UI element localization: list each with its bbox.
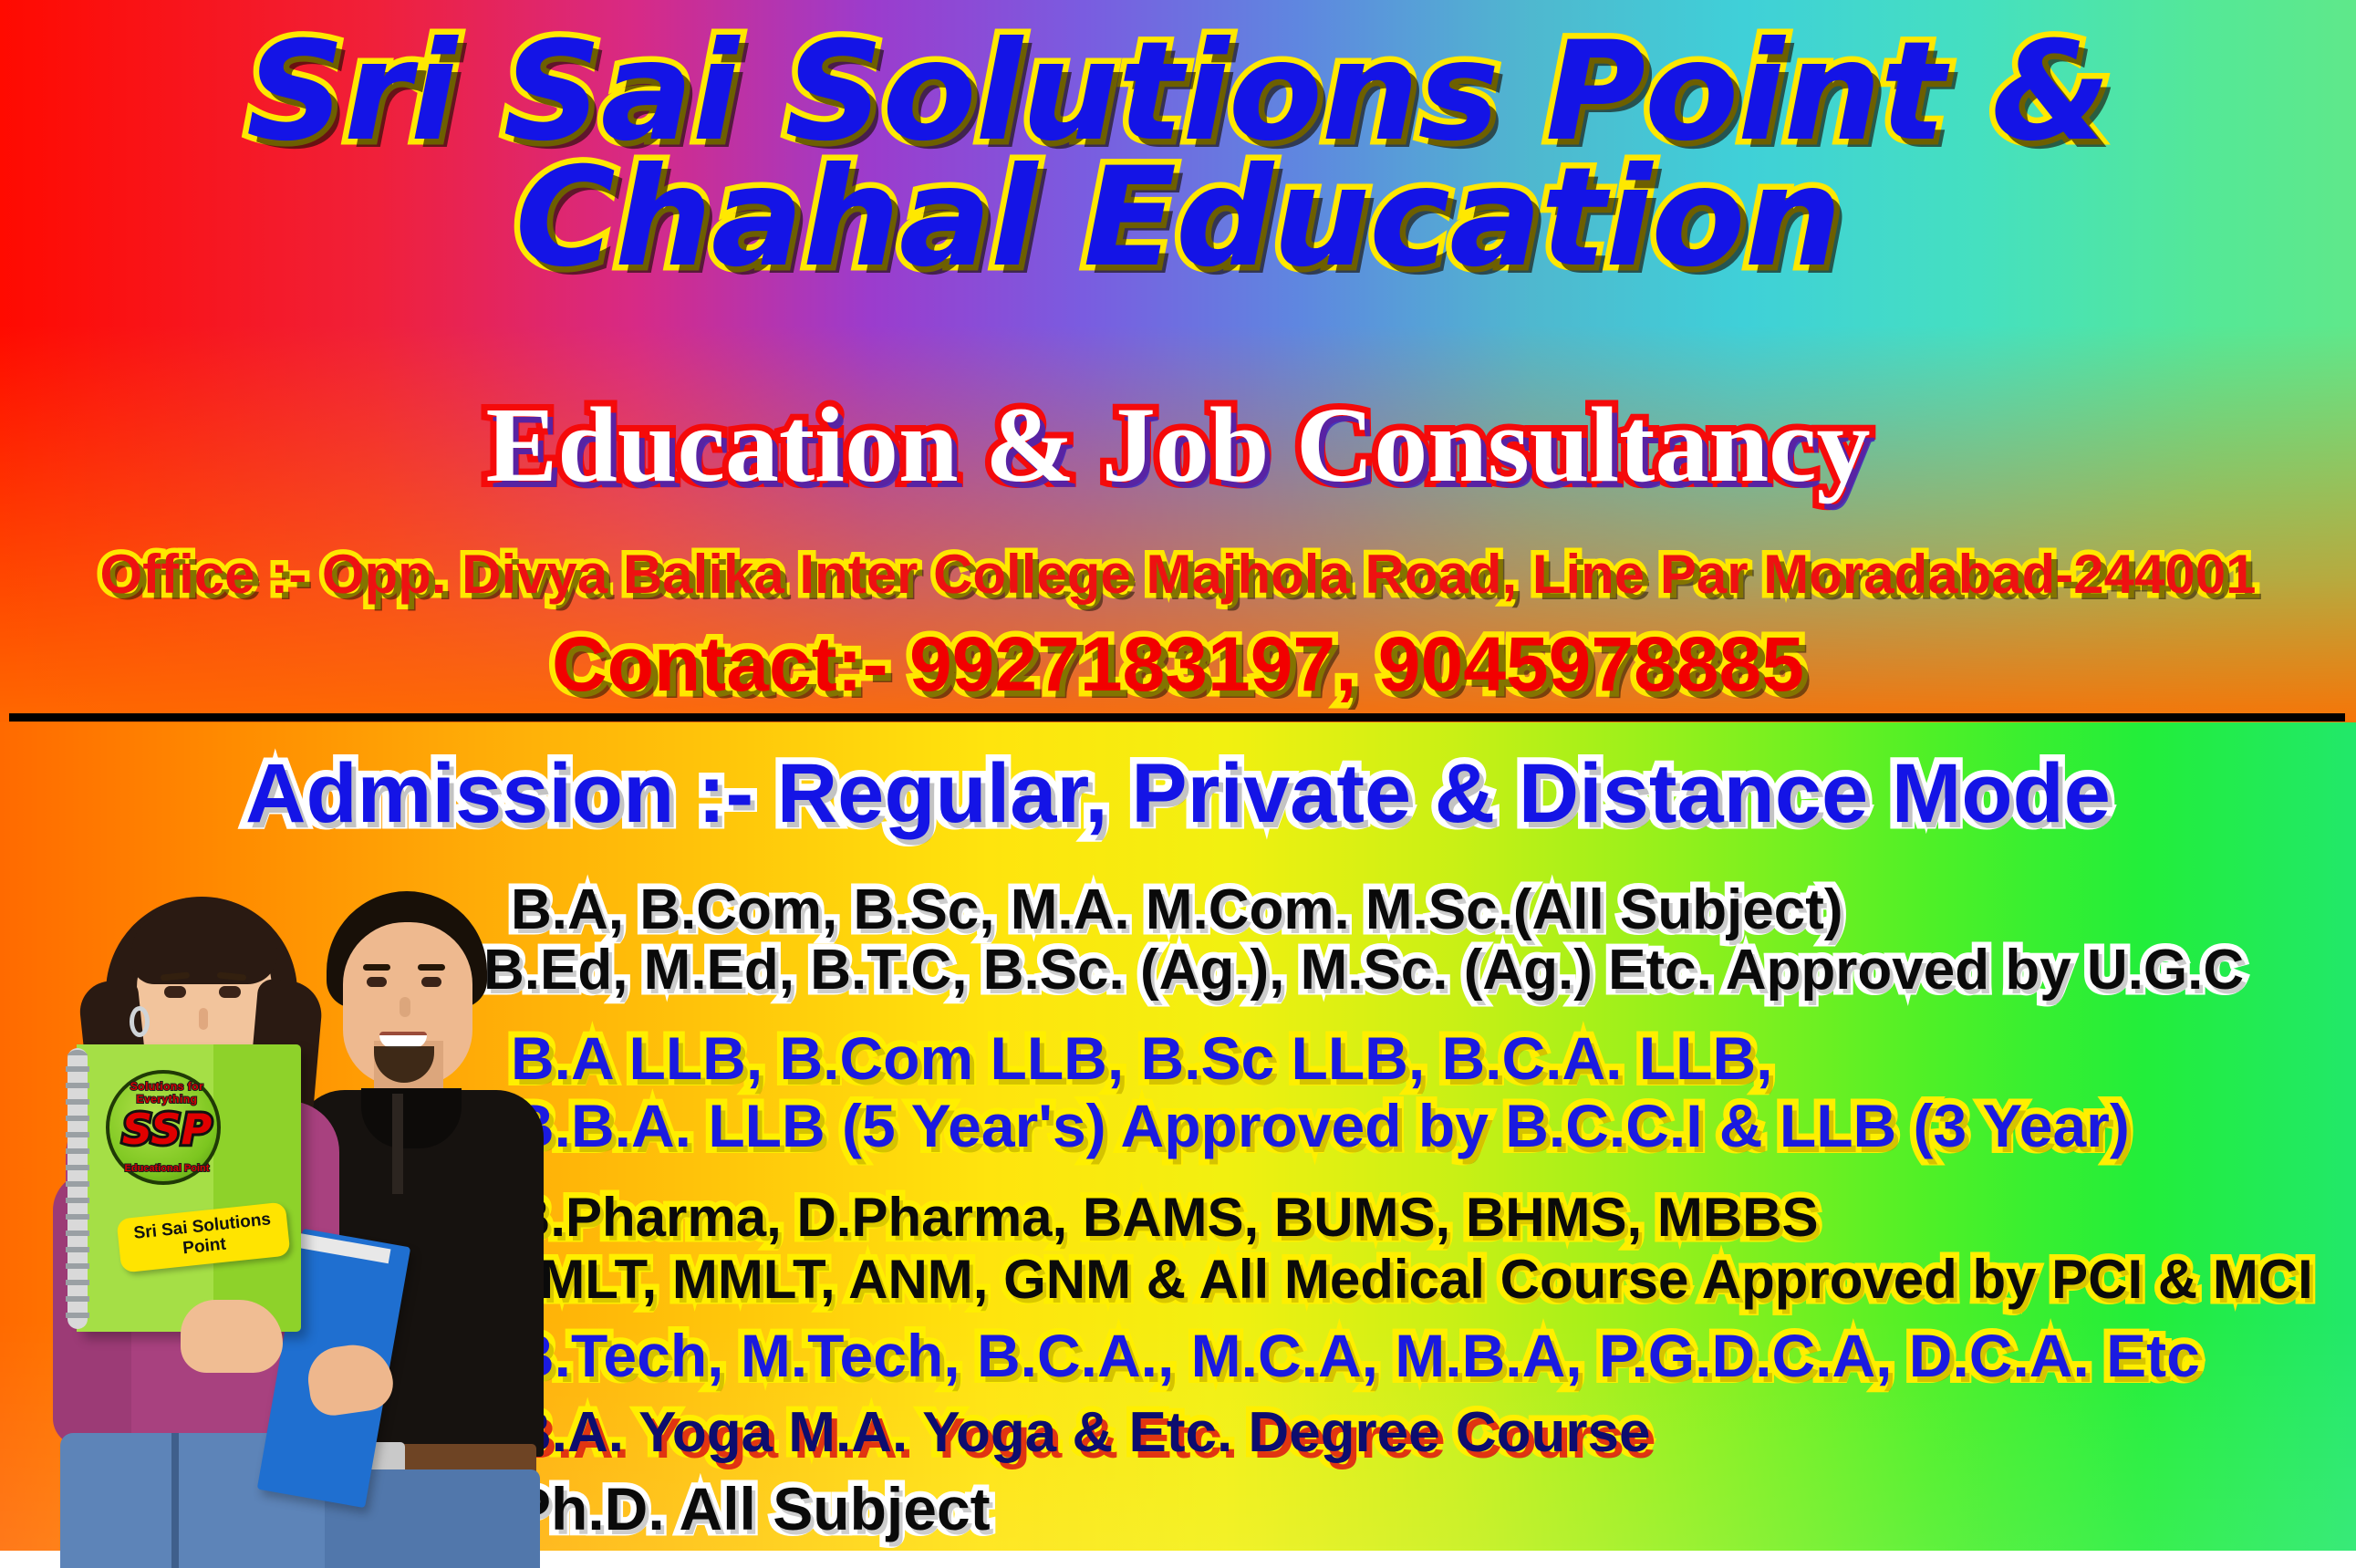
poster-title-line-2: Chahal Education bbox=[0, 139, 2356, 297]
course-line-med-1: B.Pharma, D.Pharma, BAMS, BUMS, BHMS, MB… bbox=[511, 1186, 2344, 1249]
office-address: Office :- Opp. Divya Balika Inter Colleg… bbox=[0, 543, 2356, 606]
man-shirt-placket bbox=[392, 1094, 403, 1194]
admission-headline: Admission :- Regular, Private & Distance… bbox=[0, 746, 2356, 842]
ssp-logo-monogram: SSP bbox=[109, 1108, 224, 1150]
man-brow-right bbox=[418, 964, 445, 971]
ssp-logo-subtitle: Educational Point bbox=[109, 1163, 224, 1174]
woman-jeans-seam bbox=[171, 1433, 179, 1568]
woman-eye-left bbox=[164, 986, 186, 998]
poster-canvas: Sri Sai Solutions Point & Chahal Educati… bbox=[0, 0, 2356, 1568]
man-eye-left bbox=[367, 977, 387, 987]
ssp-logo-arc-text: Solutions for Everything bbox=[109, 1080, 224, 1106]
contact-numbers[interactable]: Contact:- 9927183197, 9045978885 bbox=[0, 620, 2356, 709]
course-line-ugc-1: B.A, B.Com, B.Sc, M.A. M.Com. M.Sc.(All … bbox=[511, 877, 2344, 942]
course-line-law-1: B.A LLB, B.Com LLB, B.Sc LLB, B.C.A. LLB… bbox=[511, 1023, 2344, 1093]
woman-nose bbox=[199, 1008, 208, 1030]
course-line-law-2: B.B.A. LLB (5 Year's) Approved by B.C.C.… bbox=[511, 1091, 2353, 1160]
man-eye-right bbox=[421, 977, 441, 987]
woman-hands bbox=[181, 1300, 283, 1373]
students-photo: Solutions for Everything SSP Educational… bbox=[35, 871, 545, 1568]
woman-eye-right bbox=[219, 986, 241, 998]
course-line-ugc-2: B.Ed, M.Ed, B.T.C, B.Sc. (Ag.), M.Sc. (A… bbox=[483, 938, 2353, 1002]
course-line-tech-1: B.Tech, M.Tech, B.C.A., M.C.A, M.B.A, P.… bbox=[511, 1321, 2344, 1390]
notebook-spiral-rings bbox=[66, 1050, 89, 1327]
course-line-med-2: BMLT, MMLT, ANM, GNM & All Medical Cours… bbox=[500, 1248, 2356, 1311]
ssp-logo: Solutions for Everything SSP Educational… bbox=[106, 1070, 221, 1185]
woman-earring bbox=[130, 1006, 150, 1037]
course-line-phd-1: Ph.D. All Subject bbox=[511, 1474, 2344, 1543]
woman-hair-fringe bbox=[131, 908, 277, 984]
man-brow-left bbox=[363, 964, 390, 971]
course-line-yoga-1: B.A. Yoga M.A. Yoga & Etc. Degree Course bbox=[511, 1400, 2344, 1465]
poster-subtitle: Education & Job Consultancy bbox=[0, 383, 2356, 507]
man-nose bbox=[400, 997, 410, 1017]
section-divider bbox=[9, 713, 2345, 722]
